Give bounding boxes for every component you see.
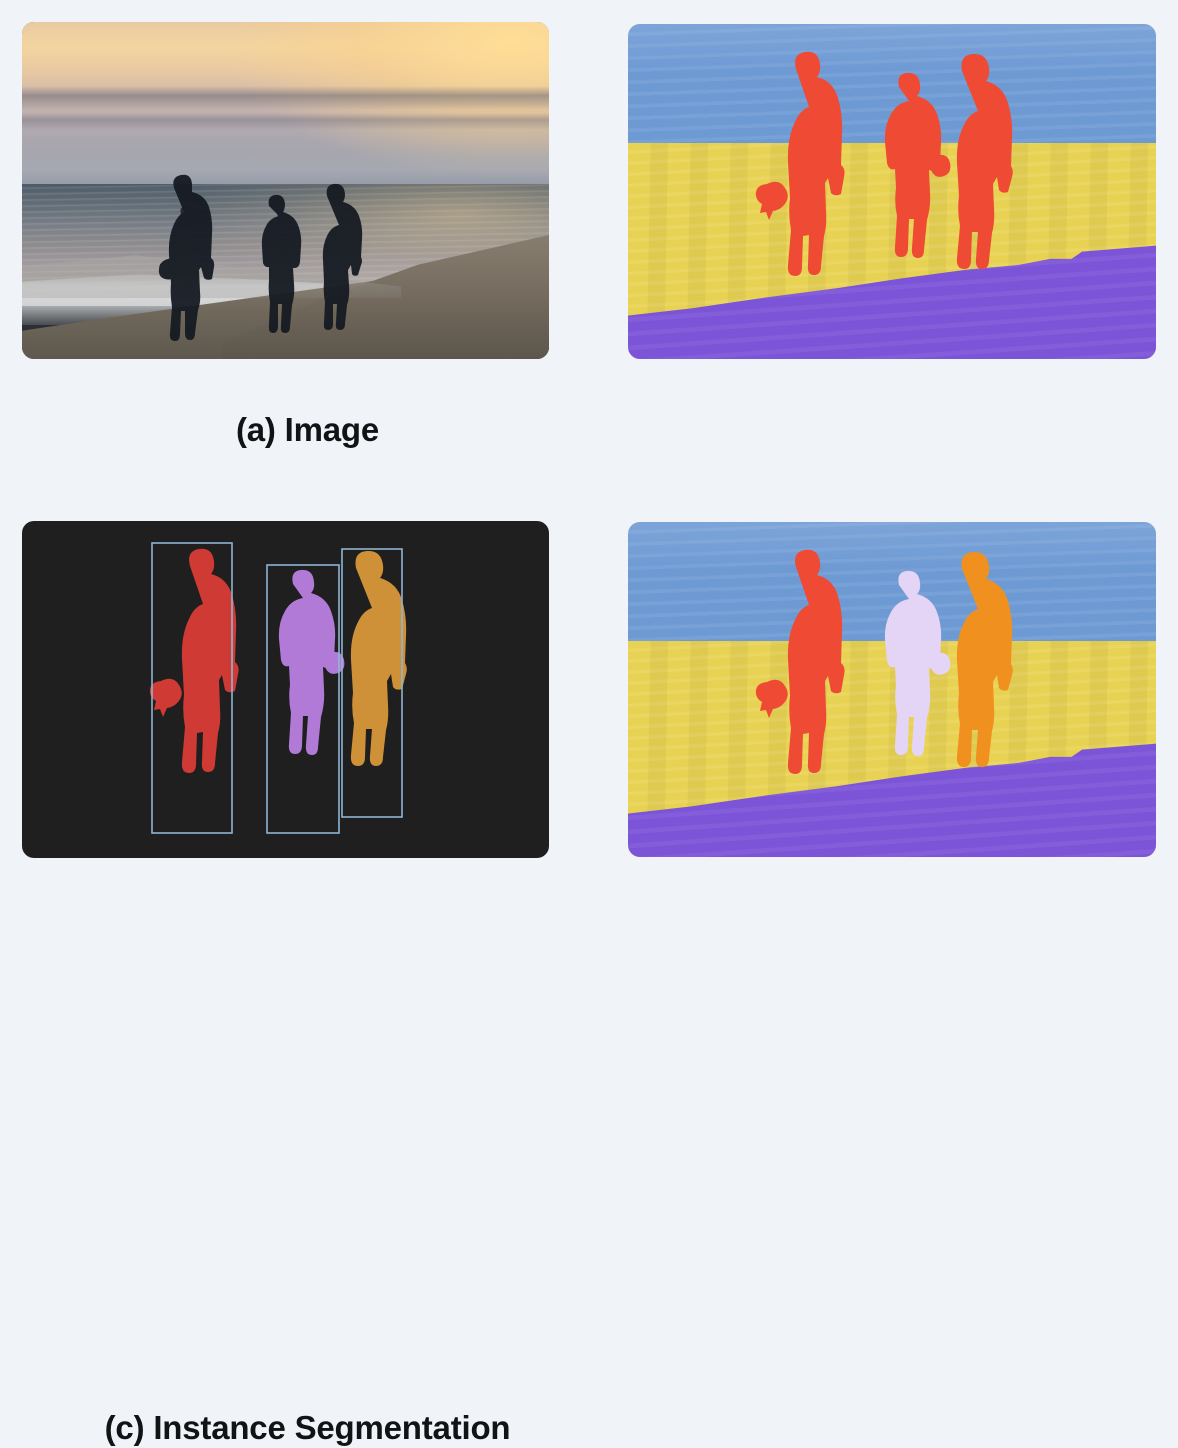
panel-a-caption: (a) Image [44,411,571,449]
panoptic-mask-image [628,522,1156,857]
semantic-person-mask [788,52,845,276]
panoptic-person-1-mask [756,680,788,718]
instance-person-3-mask [351,551,407,766]
semantic-person-mask [756,182,788,220]
panel-panoptic-segmentation: (d) Panoptic Segmentation [628,522,1156,857]
panel-instance-segmentation: (c) Instance Segmentation [22,521,549,858]
panel-semantic-segmentation: (b) Semantic Segmentation [628,24,1156,359]
photo-person-3 [323,184,362,330]
panoptic-person-1-mask [788,550,845,774]
instance-person-1-mask [182,549,239,773]
panel-c-caption: (c) Instance Segmentation [44,1409,571,1447]
segmentation-figure-grid: (a) Image (b) Semantic Segmentation [0,0,1178,960]
beach-photograph [22,22,549,359]
panoptic-person-instances-group [628,522,1156,857]
photo-person-1 [169,175,214,341]
instance-masks-group [22,521,549,858]
photo-person-silhouettes [22,22,549,359]
panoptic-person-3-mask [957,552,1013,767]
panel-image-photo: (a) Image [22,22,549,359]
instance-mask-image [22,521,549,858]
instance-person-1-mask [150,679,182,717]
semantic-person-mask [957,54,1013,269]
semantic-mask-image [628,24,1156,359]
semantic-person-class-group [628,24,1156,359]
